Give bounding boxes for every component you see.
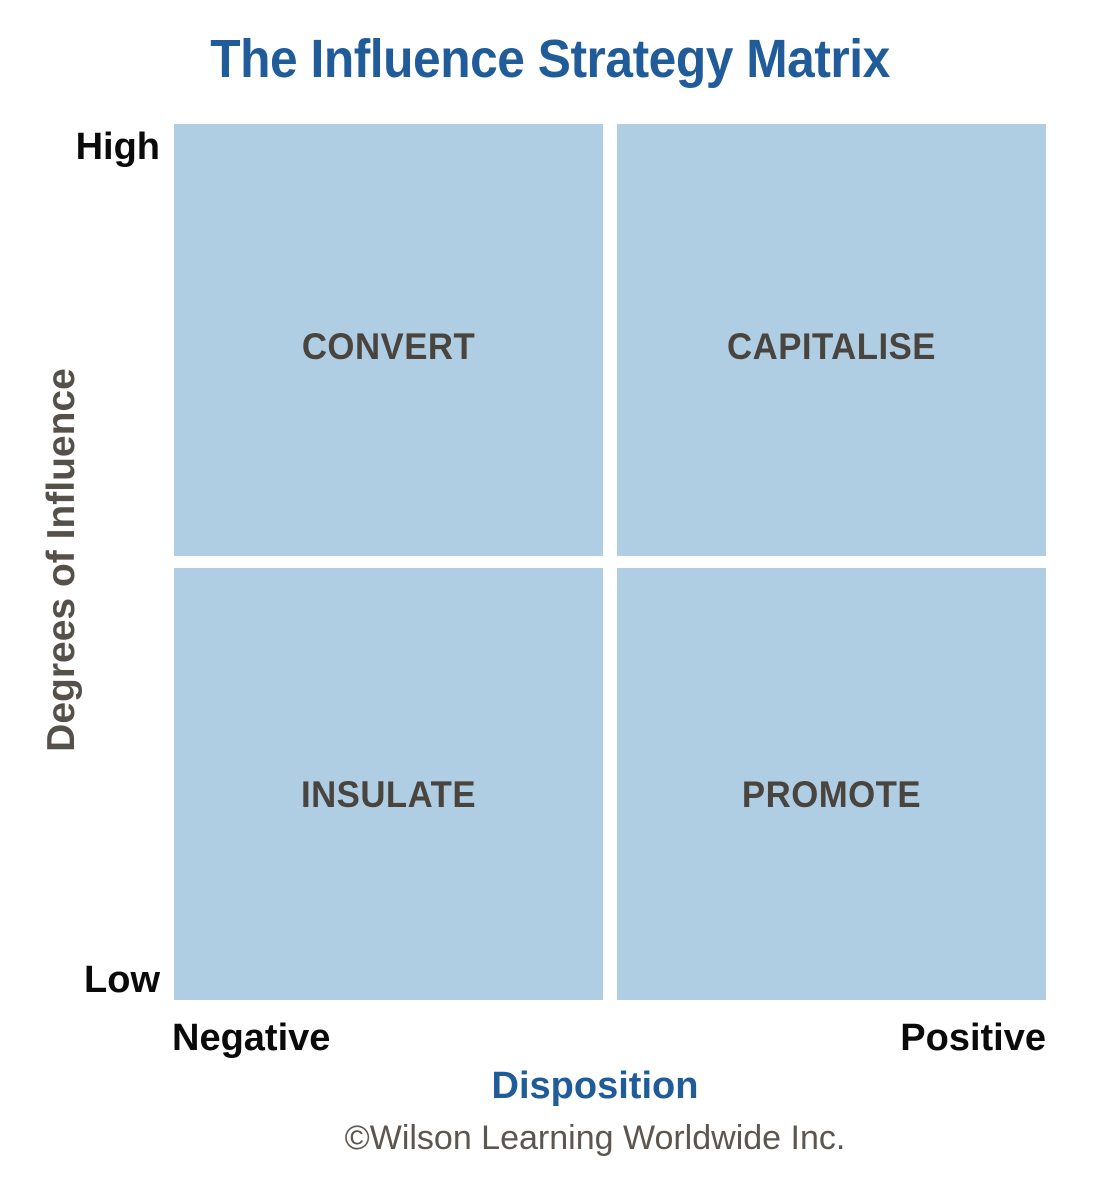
quadrant-label-convert: CONVERT [187, 326, 590, 368]
x-axis-title: Disposition [0, 1060, 1100, 1112]
y-axis-title: Degrees of Influence [30, 120, 94, 1000]
quadrant-label-capitalise: CAPITALISE [630, 326, 1033, 368]
influence-strategy-matrix-figure: The Influence Strategy Matrix Degrees of… [0, 0, 1100, 1200]
x-axis-tick-negative: Negative [172, 1012, 330, 1064]
quadrant-convert[interactable]: CONVERT [174, 124, 603, 556]
quadrant-label-insulate: INSULATE [187, 774, 590, 816]
quadrant-label-promote: PROMOTE [630, 774, 1033, 816]
page-title: The Influence Strategy Matrix [44, 22, 1056, 96]
x-axis-tick-positive: Positive [746, 1012, 1046, 1064]
quadrant-capitalise[interactable]: CAPITALISE [617, 124, 1046, 556]
copyright-notice: ©Wilson Learning Worldwide Inc. [0, 1114, 1100, 1162]
matrix-grid: CONVERT CAPITALISE INSULATE PROMOTE [174, 124, 1046, 1000]
y-axis-tick-low: Low [0, 955, 160, 1005]
quadrant-promote[interactable]: PROMOTE [617, 568, 1046, 1000]
y-axis-tick-high: High [0, 122, 160, 172]
quadrant-insulate[interactable]: INSULATE [174, 568, 603, 1000]
